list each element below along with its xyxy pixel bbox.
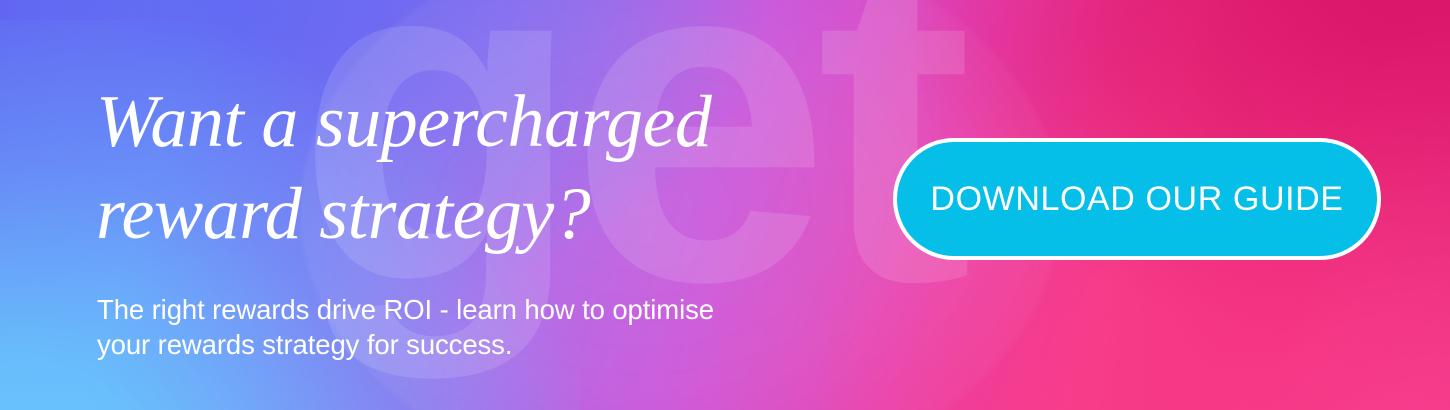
download-guide-button[interactable]: DOWNLOAD OUR GUIDE	[893, 138, 1381, 260]
headline-line-1: Want a supercharged	[96, 76, 856, 168]
banner-subtext: The right rewards drive ROI - learn how …	[97, 292, 817, 362]
banner-content: Want a supercharged reward strategy? The…	[0, 0, 1450, 410]
subtext-line-2: your rewards strategy for success.	[97, 327, 817, 362]
page-title: Want a supercharged reward strategy?	[96, 76, 856, 260]
promo-banner: get Want a supercharged reward strategy?…	[0, 0, 1450, 410]
headline-line-2: reward strategy?	[96, 168, 856, 260]
subtext-line-1: The right rewards drive ROI - learn how …	[97, 292, 817, 327]
download-guide-button-label: DOWNLOAD OUR GUIDE	[930, 180, 1343, 219]
